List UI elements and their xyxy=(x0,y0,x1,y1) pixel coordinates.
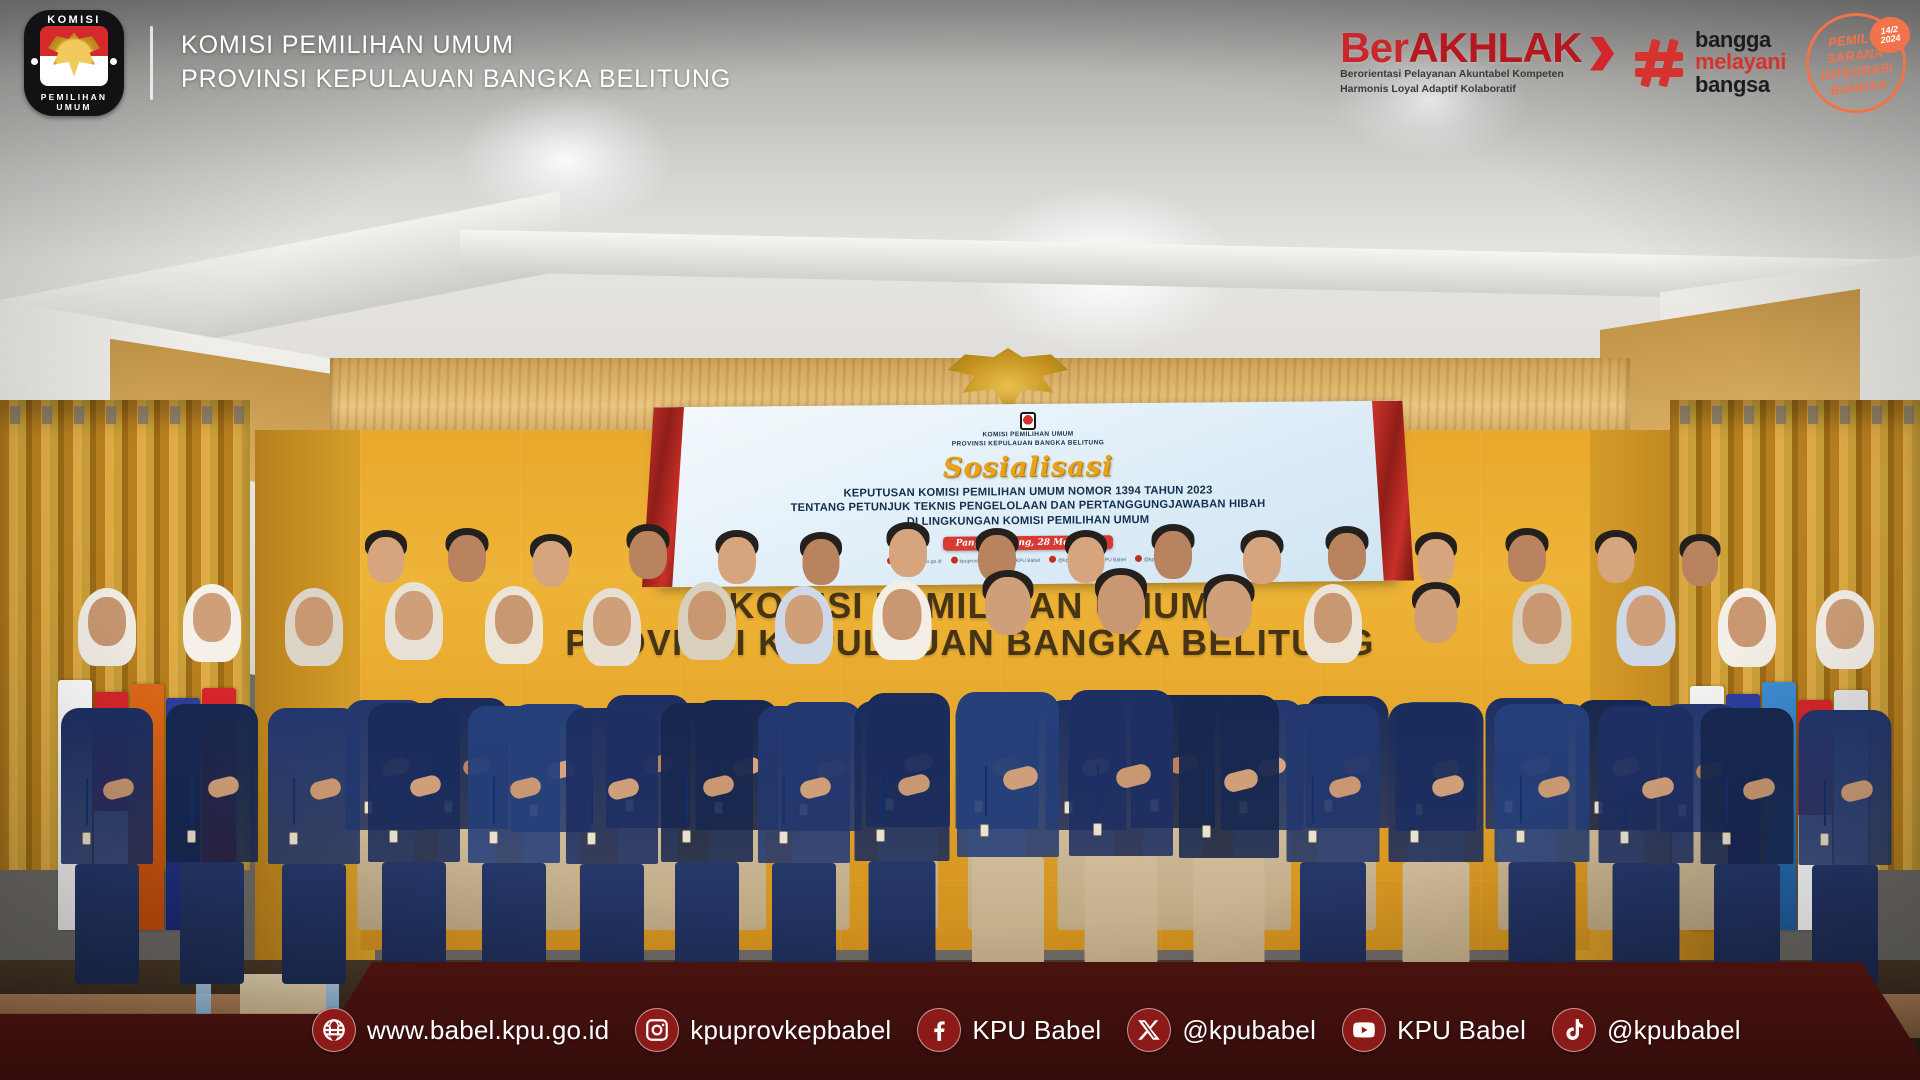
face xyxy=(395,591,433,640)
event-photograph: KOMISI PEMILIHAN UMUM PROVINSI KEPULAUAN… xyxy=(0,0,1920,1080)
person xyxy=(1280,584,1386,984)
header-divider xyxy=(150,26,153,100)
garuda-icon xyxy=(48,32,100,78)
pemilu-bubble-line2: 2024 xyxy=(1880,33,1901,45)
id-badge xyxy=(1093,823,1102,836)
lanyard xyxy=(985,766,987,816)
person xyxy=(1488,584,1596,984)
social-link-youtube[interactable]: KPU Babel xyxy=(1342,1008,1526,1052)
id-badge xyxy=(1722,832,1731,845)
lanyard xyxy=(191,776,193,823)
person xyxy=(262,588,366,984)
face xyxy=(368,537,405,583)
face xyxy=(889,529,927,577)
bangga-line-3: bangsa xyxy=(1695,74,1786,96)
bangga-line-2: melayani xyxy=(1695,51,1786,73)
chevron-icon xyxy=(1590,37,1614,71)
person xyxy=(1062,568,1180,984)
kpu-logo-top-text: KOMISI xyxy=(24,14,124,26)
lanyard xyxy=(1414,774,1416,822)
person xyxy=(655,582,759,984)
id-badge xyxy=(1308,830,1317,843)
social-label: www.babel.kpu.go.id xyxy=(367,1015,609,1046)
social-link-instagram[interactable]: kpuprovkepbabel xyxy=(635,1008,891,1052)
banner-kpu-logo-icon xyxy=(1020,412,1036,430)
person xyxy=(752,586,856,984)
trousers xyxy=(180,862,244,984)
id-badge xyxy=(980,824,989,837)
youtube-icon[interactable] xyxy=(1342,1008,1386,1052)
person xyxy=(1592,586,1700,984)
trousers xyxy=(282,864,346,984)
face xyxy=(1508,535,1546,582)
face xyxy=(1682,541,1718,586)
header-title-line2: PROVINSI KEPULAUAN BANGKA BELITUNG xyxy=(181,63,731,97)
social-label: KPU Babel xyxy=(1397,1015,1526,1046)
lanyard xyxy=(1520,776,1522,823)
lanyard xyxy=(1624,777,1626,824)
face xyxy=(495,595,533,644)
lanyard xyxy=(493,777,495,824)
face xyxy=(785,595,823,644)
social-links-row: www.babel.kpu.go.idkpuprovkepbabelKPU Ba… xyxy=(312,980,1856,1080)
header-title-block: KOMISI PEMILIHAN UMUM PROVINSI KEPULAUAN… xyxy=(181,29,731,96)
face xyxy=(1826,599,1864,649)
person xyxy=(55,588,159,984)
face xyxy=(985,577,1031,635)
lanyard xyxy=(1824,779,1826,826)
id-badge xyxy=(82,832,91,845)
person xyxy=(950,570,1066,984)
person xyxy=(1382,582,1490,984)
header-logo-group: BerAKHLAK Berorientasi Pelayanan Akuntab… xyxy=(1340,0,1908,125)
social-label: @kpubabel xyxy=(1182,1015,1316,1046)
social-label: kpuprovkepbabel xyxy=(690,1015,891,1046)
lanyard xyxy=(293,778,295,825)
social-label: @kpubabel xyxy=(1607,1015,1741,1046)
face xyxy=(1328,533,1366,580)
face xyxy=(1098,575,1145,634)
face xyxy=(193,593,231,642)
face xyxy=(1627,595,1666,646)
face xyxy=(295,597,333,646)
instagram-icon[interactable] xyxy=(635,1008,679,1052)
berakhlak-tagline-1: Berorientasi Pelayanan Akuntabel Kompete… xyxy=(1340,68,1582,82)
x-twitter-icon[interactable] xyxy=(1127,1008,1171,1052)
face xyxy=(1314,593,1352,643)
person xyxy=(160,584,264,984)
id-badge xyxy=(779,831,788,844)
pemilu-sarana-integrasi-bangsa-logo: PEMILU SARANA INTEGRASI BANGSA 14/2 2024 xyxy=(1804,11,1908,115)
person xyxy=(1792,590,1898,984)
hashtag-icon xyxy=(1634,37,1686,89)
berakhlak-logo: BerAKHLAK Berorientasi Pelayanan Akuntab… xyxy=(1340,29,1616,97)
lanyard xyxy=(686,774,688,822)
id-badge xyxy=(1516,830,1525,843)
header-title-line1: KOMISI PEMILIHAN UMUM xyxy=(181,29,731,63)
face xyxy=(883,589,922,640)
id-badge xyxy=(1820,833,1829,846)
face xyxy=(1206,581,1252,638)
person xyxy=(362,582,466,984)
face xyxy=(448,535,486,582)
social-link-tiktok[interactable]: @kpubabel xyxy=(1552,1008,1741,1052)
lanyard xyxy=(1312,776,1314,823)
curtain-rings-left xyxy=(0,406,250,424)
bangga-melayani-bangsa-logo: bangga melayani bangsa xyxy=(1634,29,1786,96)
face xyxy=(688,591,726,640)
lanyard xyxy=(1726,778,1728,825)
curtain-rings-right xyxy=(1670,406,1920,424)
id-badge xyxy=(187,830,196,843)
lanyard xyxy=(393,774,395,822)
kpu-logo-bottom-text: PEMILIHAN UMUM xyxy=(24,92,124,112)
berakhlak-prefix: Ber xyxy=(1340,24,1408,71)
face xyxy=(593,597,631,646)
poster-header: KOMISI PEMILIHAN UMUM KOMISI PEMILIHAN U… xyxy=(0,0,731,125)
id-badge xyxy=(489,831,498,844)
lanyard xyxy=(1097,765,1099,815)
face xyxy=(1523,593,1562,644)
facebook-icon[interactable] xyxy=(917,1008,961,1052)
face xyxy=(803,539,840,585)
lanyard xyxy=(86,778,88,825)
social-link-facebook[interactable]: KPU Babel xyxy=(917,1008,1101,1052)
face xyxy=(1418,539,1455,585)
person xyxy=(848,580,956,984)
social-link-globe[interactable]: www.babel.kpu.go.id xyxy=(312,1008,609,1052)
id-badge xyxy=(682,830,691,843)
poster-canvas: KOMISI PEMILIHAN UMUM PROVINSI KEPULAUAN… xyxy=(0,0,1920,1080)
lanyard xyxy=(591,778,593,825)
person xyxy=(1694,588,1800,984)
id-badge xyxy=(389,830,398,843)
face xyxy=(629,531,667,579)
face xyxy=(533,541,570,587)
id-badge xyxy=(289,832,298,845)
lanyard xyxy=(783,777,785,824)
person xyxy=(462,586,566,984)
id-badge xyxy=(1620,831,1629,844)
id-badge xyxy=(1410,830,1419,843)
berakhlak-suffix: AKHLAK xyxy=(1408,24,1582,71)
berakhlak-tagline-2: Harmonis Loyal Adaptif Kolaboratif xyxy=(1340,83,1582,97)
face xyxy=(1728,597,1766,647)
lanyard xyxy=(1206,768,1208,817)
person xyxy=(1172,574,1286,984)
face xyxy=(1415,589,1458,643)
id-badge xyxy=(1202,825,1211,838)
person xyxy=(560,588,664,984)
banner-script-title: Sosialisasi xyxy=(704,449,1352,486)
id-badge xyxy=(587,832,596,845)
kpu-logo-icon: KOMISI PEMILIHAN UMUM xyxy=(24,10,124,116)
lanyard xyxy=(880,773,882,821)
face xyxy=(1598,537,1635,583)
face xyxy=(718,537,756,584)
social-link-x-twitter[interactable]: @kpubabel xyxy=(1127,1008,1316,1052)
tiktok-icon[interactable] xyxy=(1552,1008,1596,1052)
globe-icon[interactable] xyxy=(312,1008,356,1052)
trousers xyxy=(75,864,139,984)
id-badge xyxy=(876,829,885,842)
bangga-line-1: bangga xyxy=(1695,29,1786,51)
face xyxy=(88,597,126,646)
social-label: KPU Babel xyxy=(972,1015,1101,1046)
